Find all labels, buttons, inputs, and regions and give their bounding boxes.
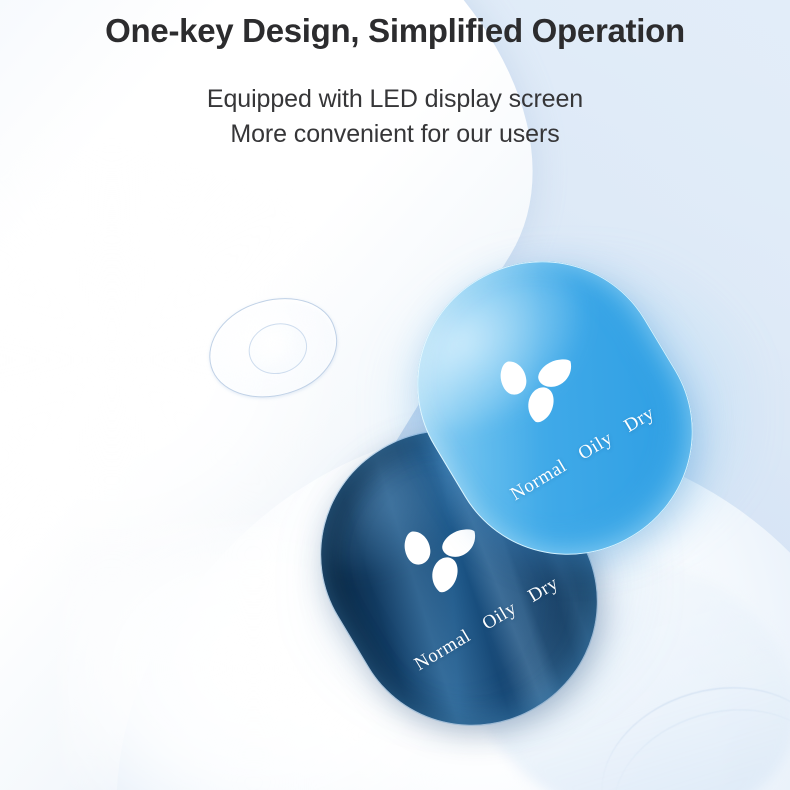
subtitle-line-2: More convenient for our users [0,120,790,149]
mode-label-oily: Oily [575,428,617,465]
headline: One-key Design, Simplified Operation [0,12,790,50]
three-petal-pinwheel-icon [482,325,596,436]
mode-label-normal: Normal [507,455,571,505]
promo-image-stage: Normal Oily Dry Normal Oily Dry One-key … [0,0,790,790]
mode-label-oily: Oily [479,598,521,635]
subtitle-line-1: Equipped with LED display screen [0,85,790,114]
mode-label-normal: Normal [411,625,475,675]
mode-label-dry: Dry [621,403,659,437]
